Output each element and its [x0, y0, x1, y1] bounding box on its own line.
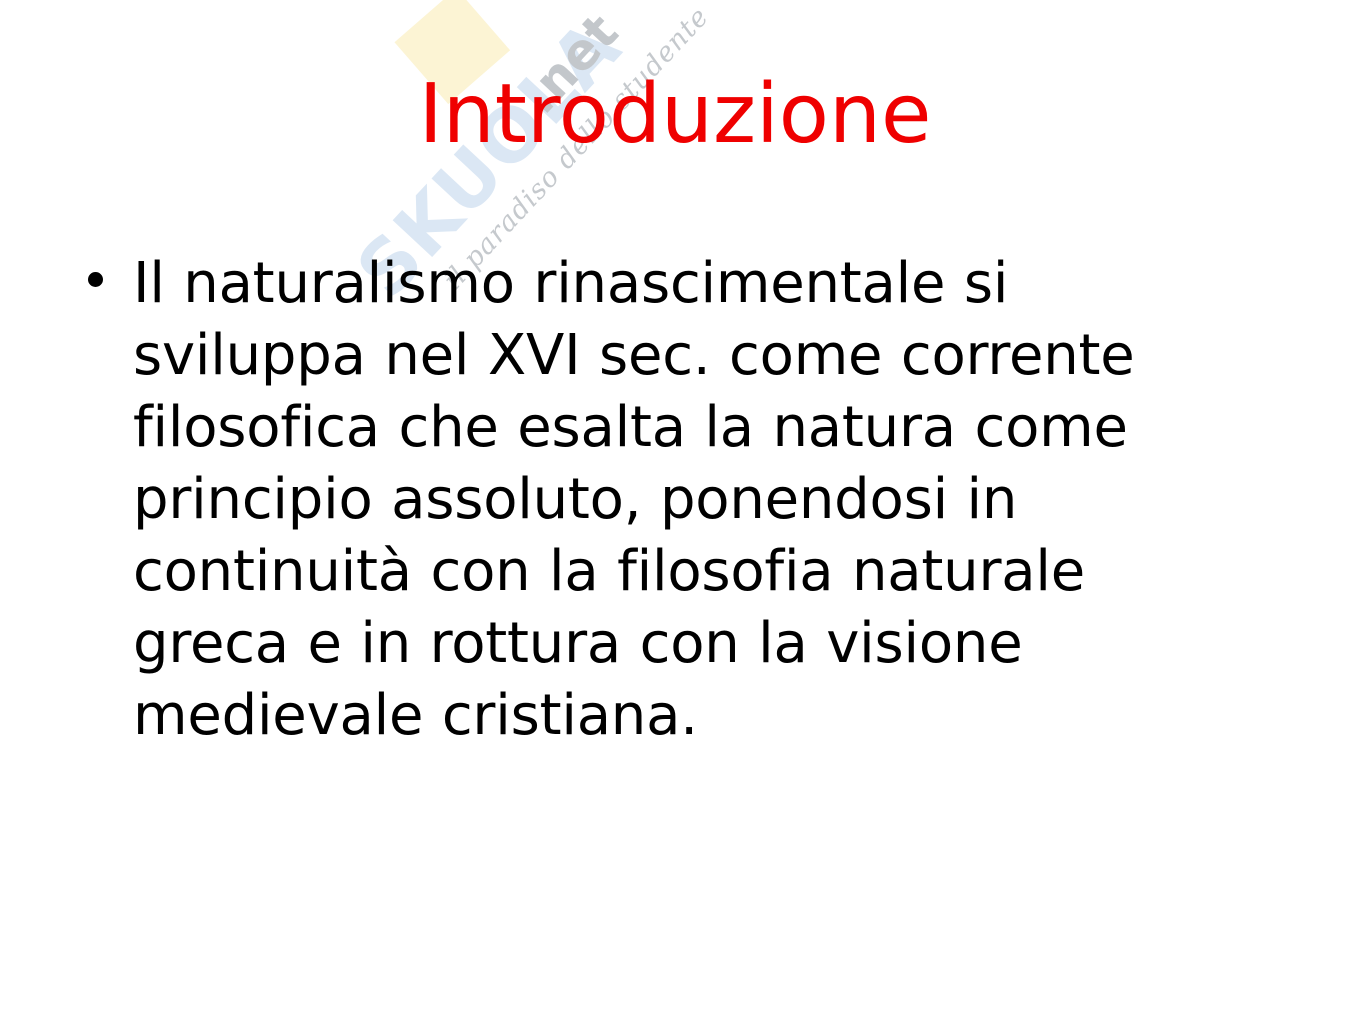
slide-body: Il naturalismo rinascimentale si svilupp…	[80, 248, 1240, 752]
bullet-item-text: Il naturalismo rinascimentale si svilupp…	[133, 248, 1240, 752]
presentation-slide: SKUOLA .net il paradiso dello studente I…	[0, 0, 1350, 1013]
slide-title: Introduzione	[0, 72, 1350, 159]
bullet-dot-icon	[88, 272, 103, 287]
bullet-list-item: Il naturalismo rinascimentale si svilupp…	[80, 248, 1240, 752]
